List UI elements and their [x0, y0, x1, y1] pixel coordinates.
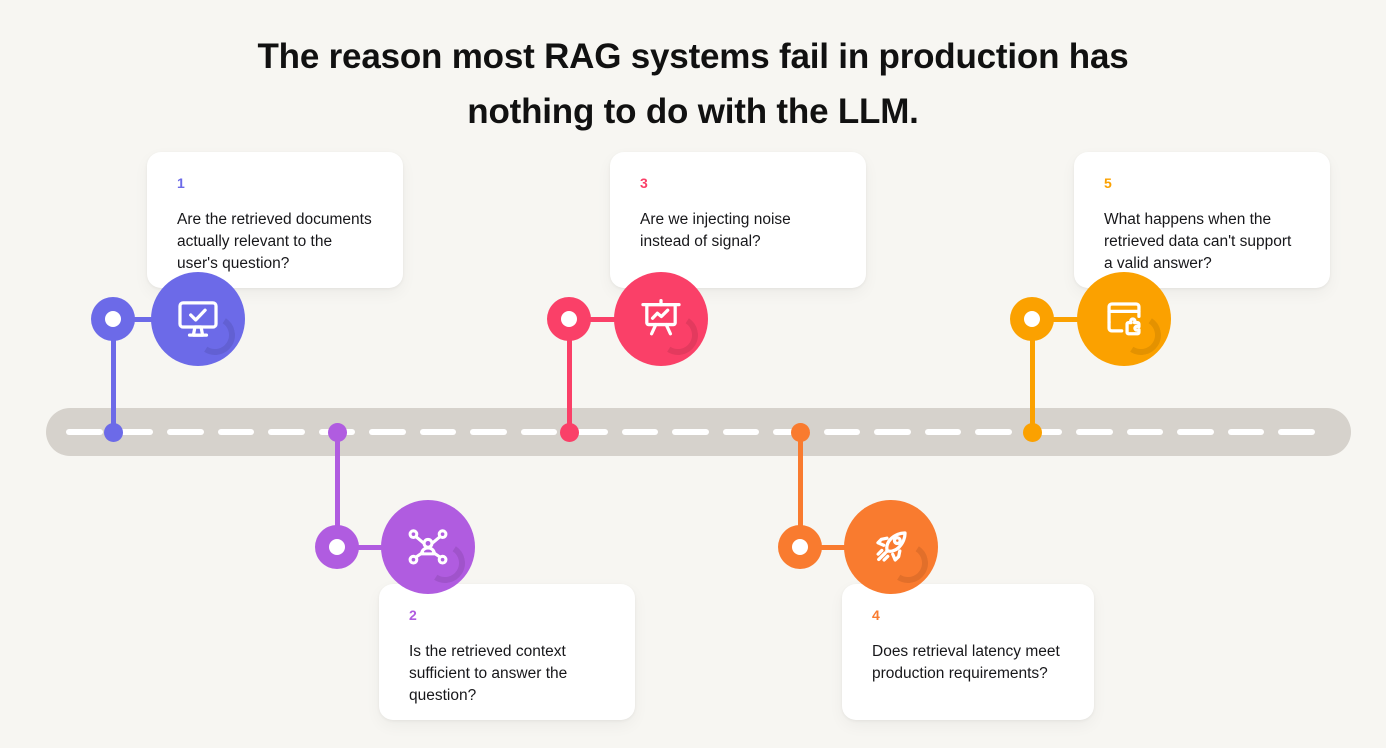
timeline-dash — [218, 429, 255, 435]
rocket-icon — [868, 524, 914, 570]
timeline-dash — [420, 429, 457, 435]
timeline-dot-4[interactable] — [791, 423, 810, 442]
step-icon-bubble-4[interactable] — [844, 500, 938, 594]
timeline-dash — [824, 429, 861, 435]
step-number-4: 4 — [872, 608, 1066, 622]
infographic-canvas: The reason most RAG systems fail in prod… — [0, 0, 1386, 748]
timeline-dash — [975, 429, 1012, 435]
timeline-dash — [672, 429, 709, 435]
timeline-dash — [723, 429, 760, 435]
page-title-line-2: nothing to do with the LLM. — [193, 85, 1193, 140]
presentation-chart-icon — [638, 296, 684, 342]
timeline-dash — [1278, 429, 1315, 435]
timeline-dash — [622, 429, 659, 435]
step-marker-3[interactable] — [547, 297, 591, 341]
timeline-dash — [167, 429, 204, 435]
connector-bar-5 — [1051, 317, 1079, 322]
page-title: The reason most RAG systems fail in prod… — [193, 30, 1193, 139]
timeline-dashes — [66, 429, 1315, 435]
timeline-dash — [369, 429, 406, 435]
user-network-icon — [405, 524, 451, 570]
page-title-line-1: The reason most RAG systems fail in prod… — [193, 30, 1193, 85]
step-card-5[interactable]: 5 What happens when the retrieved data c… — [1074, 152, 1330, 288]
step-number-5: 5 — [1104, 176, 1302, 190]
step-text-3: Are we injecting noise instead of signal… — [640, 209, 838, 253]
step-number-3: 3 — [640, 176, 838, 190]
timeline-dot-1[interactable] — [104, 423, 123, 442]
step-card-3[interactable]: 3 Are we injecting noise instead of sign… — [610, 152, 866, 288]
step-marker-5[interactable] — [1010, 297, 1054, 341]
step-card-4[interactable]: 4 Does retrieval latency meet production… — [842, 584, 1094, 720]
timeline-dash — [268, 429, 305, 435]
step-icon-bubble-3[interactable] — [614, 272, 708, 366]
timeline-dash — [66, 429, 103, 435]
step-marker-2[interactable] — [315, 525, 359, 569]
timeline-dash — [521, 429, 558, 435]
step-number-1: 1 — [177, 176, 375, 190]
timeline-dash — [874, 429, 911, 435]
step-marker-4[interactable] — [778, 525, 822, 569]
step-icon-bubble-1[interactable] — [151, 272, 245, 366]
step-number-2: 2 — [409, 608, 607, 622]
step-text-5: What happens when the retrieved data can… — [1104, 209, 1302, 275]
monitor-check-icon — [175, 296, 221, 342]
step-text-1: Are the retrieved documents actually rel… — [177, 209, 375, 275]
step-marker-1[interactable] — [91, 297, 135, 341]
step-text-2: Is the retrieved context sufficient to a… — [409, 641, 607, 707]
timeline-dash — [1228, 429, 1265, 435]
timeline-dash — [1177, 429, 1214, 435]
timeline-dot-3[interactable] — [560, 423, 579, 442]
step-icon-bubble-2[interactable] — [381, 500, 475, 594]
timeline-dash — [470, 429, 507, 435]
connector-bar-3 — [588, 317, 616, 322]
timeline-dash — [1127, 429, 1164, 435]
timeline-dash — [1076, 429, 1113, 435]
window-puzzle-icon — [1101, 296, 1147, 342]
step-icon-bubble-5[interactable] — [1077, 272, 1171, 366]
step-card-1[interactable]: 1 Are the retrieved documents actually r… — [147, 152, 403, 288]
timeline-dash — [925, 429, 962, 435]
timeline-dot-5[interactable] — [1023, 423, 1042, 442]
step-text-4: Does retrieval latency meet production r… — [872, 641, 1066, 685]
step-card-2[interactable]: 2 Is the retrieved context sufficient to… — [379, 584, 635, 720]
timeline-dot-2[interactable] — [328, 423, 347, 442]
